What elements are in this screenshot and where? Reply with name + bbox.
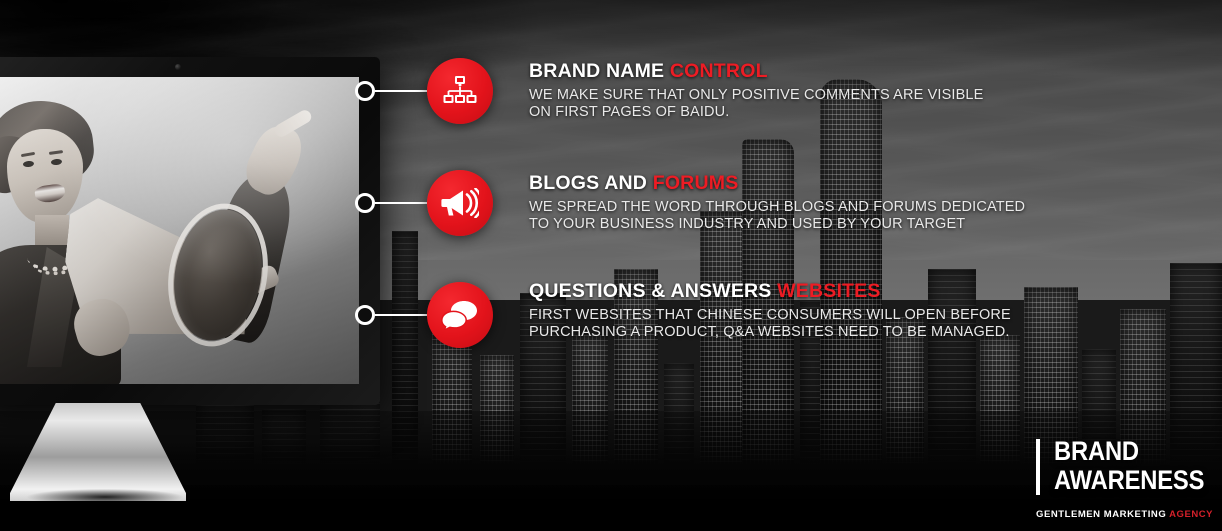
feature-block-1: BRAND NAME CONTROL WE MAKE SURE THAT ONL… (529, 60, 983, 121)
feature-block-3: QUESTIONS & ANSWERS WEBSITES FIRST WEBSI… (529, 280, 1011, 341)
feature-1-line-2: ON FIRST PAGES OF BAIDU. (529, 104, 983, 121)
feature-2-line-2: TO YOUR BUSINESS INDUSTRY AND USED BY YO… (529, 216, 1025, 233)
infographic-poster: China is DIGITAL (0, 0, 1222, 531)
connector-ring-2 (355, 193, 375, 213)
webcam-icon (175, 64, 181, 70)
feature-3-heading-accent: WEBSITES (777, 280, 880, 302)
feature-2-line-1: WE SPREAD THE WORD THROUGH BLOGS AND FOR… (529, 199, 1025, 216)
brand-title-line-1: BRAND (1054, 437, 1204, 466)
feature-3-line-1: FIRST WEBSITES THAT CHINESE CONSUMERS WI… (529, 307, 1011, 324)
connector-wire-3 (375, 314, 427, 316)
feature-block-2: BLOGS AND FORUMS WE SPREAD THE WORD THRO… (529, 172, 1025, 233)
feature-3-line-2: PURCHASING A PRODUCT, Q&A WEBSITES NEED … (529, 324, 1011, 341)
feature-1-line-1: WE MAKE SURE THAT ONLY POSITIVE COMMENTS… (529, 87, 983, 104)
feature-3-heading-white: QUESTIONS & ANSWERS (529, 280, 777, 302)
monitor-stand-shadow (0, 486, 210, 508)
woman-megaphone-photo (0, 77, 359, 384)
feature-2-heading-white: BLOGS AND (529, 172, 653, 194)
logo-script-text: China (218, 383, 325, 384)
connector-ring-3 (355, 305, 375, 325)
feature-1-heading-white: BRAND NAME (529, 60, 670, 82)
megaphone-icon[interactable] (427, 170, 493, 236)
feature-3-heading: QUESTIONS & ANSWERS WEBSITES (529, 280, 1011, 303)
monitor-screen: China is DIGITAL (0, 77, 359, 384)
feature-1-heading-accent: CONTROL (670, 60, 768, 82)
network-sitemap-icon[interactable] (427, 58, 493, 124)
feature-2-heading-accent: FORUMS (653, 172, 739, 194)
brand-divider-rule (1036, 439, 1040, 495)
china-is-digital-logo: China is DIGITAL (221, 383, 341, 384)
connector-wire-2 (375, 202, 427, 204)
connector-ring-1 (355, 81, 375, 101)
tagline-white: GENTLEMEN MARKETING (1036, 509, 1169, 520)
feature-2-heading: BLOGS AND FORUMS (529, 172, 1025, 195)
connector-wire-1 (375, 90, 427, 92)
brand-title-line-2: AWARENESS (1054, 466, 1204, 495)
chat-bubbles-icon[interactable] (427, 282, 493, 348)
feature-1-heading: BRAND NAME CONTROL (529, 60, 983, 83)
agency-tagline: GENTLEMEN MARKETING AGENCYSHANGHAI (1036, 508, 1222, 520)
monitor-frame: China is DIGITAL (0, 57, 380, 405)
tagline-accent: AGENCY (1169, 509, 1213, 520)
